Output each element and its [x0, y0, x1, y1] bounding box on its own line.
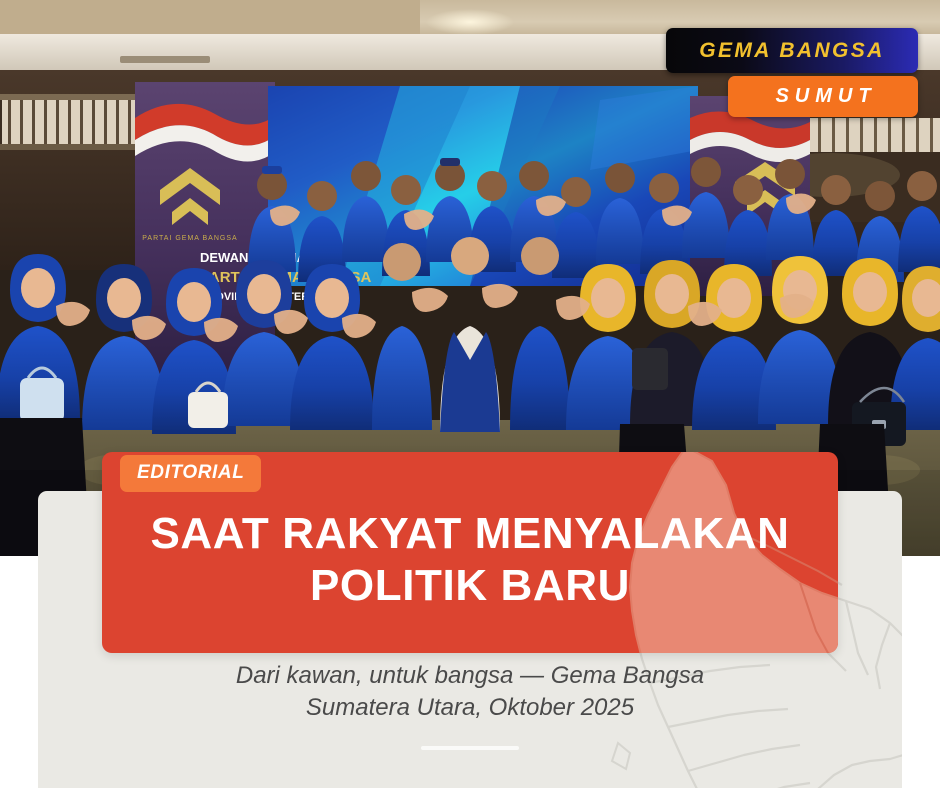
- svg-text:PARTAI GEMA BANGSA: PARTAI GEMA BANGSA: [142, 235, 237, 242]
- brand-region-text: SUMUT: [769, 85, 876, 108]
- subtitle-block: Dari kawan, untuk bangsa — Gema Bangsa S…: [38, 660, 902, 750]
- subtitle-line-1: Dari kawan, untuk bangsa — Gema Bangsa: [38, 660, 902, 692]
- editorial-badge[interactable]: EDITORIAL: [120, 455, 261, 492]
- brand-badge-secondary: SUMUT: [728, 76, 918, 117]
- headline-line-1: SAAT RAKYAT MENYALAKAN: [150, 508, 789, 559]
- brand-badge-primary: GEMA BANGSA: [666, 28, 918, 73]
- brand-name-text: GEMA BANGSA: [699, 39, 884, 63]
- brand-badge: GEMA BANGSA SUMUT: [666, 28, 918, 117]
- editorial-poster: PARTAI GEMA BANGSA DEWAN PIMPINAN WILAYA…: [0, 0, 940, 788]
- divider-rule: [421, 746, 519, 750]
- editorial-badge-label: EDITORIAL: [137, 462, 244, 483]
- subtitle-line-2: Sumatera Utara, Oktober 2025: [38, 692, 902, 724]
- headline-line-2: POLITIK BARU: [310, 560, 630, 611]
